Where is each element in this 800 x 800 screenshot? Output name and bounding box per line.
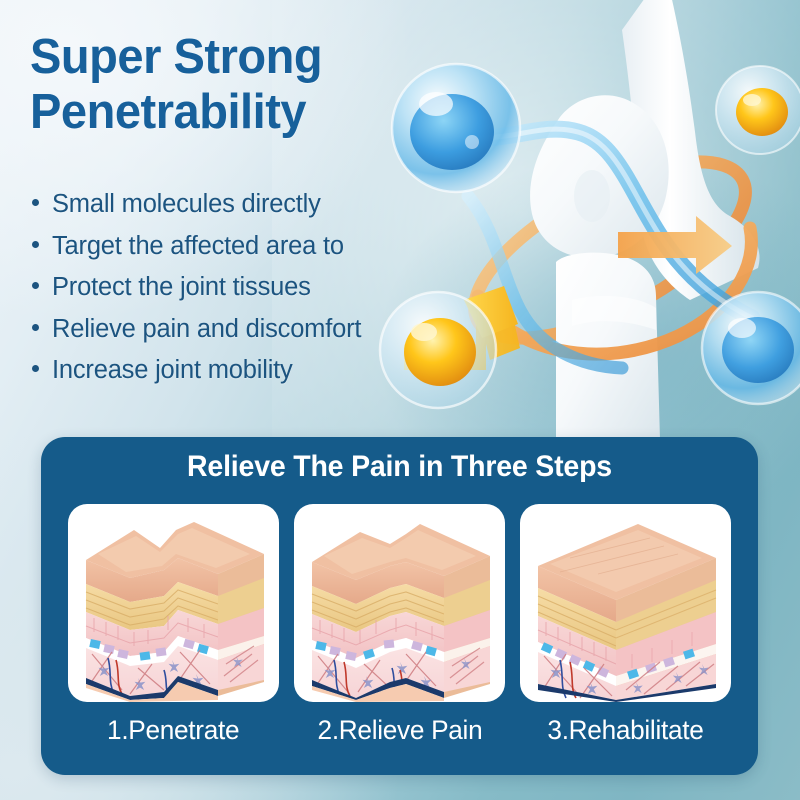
list-item-label: Increase joint mobility bbox=[52, 356, 293, 384]
skin-cross-section-healing bbox=[294, 504, 505, 702]
list-item: Target the affected area to bbox=[32, 232, 432, 260]
page-title-line-1: Super Strong bbox=[30, 30, 414, 85]
step-card-2: 2.Relieve Pain bbox=[294, 504, 505, 746]
list-item: Increase joint mobility bbox=[32, 356, 432, 384]
bullet-dot-icon bbox=[32, 365, 39, 372]
list-item: Small molecules directly bbox=[32, 190, 432, 218]
skin-cross-section-deep-wound bbox=[68, 504, 279, 702]
step-card-1: 1.Penetrate bbox=[68, 504, 279, 746]
list-item-label: Small molecules directly bbox=[52, 190, 321, 218]
list-item-label: Target the affected area to bbox=[52, 232, 344, 260]
list-item-label: Protect the joint tissues bbox=[52, 273, 311, 301]
list-item: Relieve pain and discomfort bbox=[32, 315, 432, 343]
step-card-1-label: 1.Penetrate bbox=[107, 715, 239, 746]
benefits-list: Small molecules directly Target the affe… bbox=[32, 190, 432, 398]
skin-cross-section-healed bbox=[520, 504, 731, 702]
blue-molecule-sphere-lower-right bbox=[702, 292, 800, 404]
step-card-2-label: 2.Relieve Pain bbox=[317, 715, 482, 746]
page-title: Super Strong Penetrability bbox=[30, 30, 414, 140]
list-item: Protect the joint tissues bbox=[32, 273, 432, 301]
bullet-dot-icon bbox=[32, 282, 39, 289]
bullet-dot-icon bbox=[32, 199, 39, 206]
steps-panel: Relieve The Pain in Three Steps bbox=[41, 437, 758, 775]
steps-card-row: 1.Penetrate bbox=[68, 504, 731, 746]
page-title-line-2: Penetrability bbox=[30, 85, 414, 140]
bullet-dot-icon bbox=[32, 324, 39, 331]
step-card-3-label: 3.Rehabilitate bbox=[547, 715, 703, 746]
step-card-3: 3.Rehabilitate bbox=[520, 504, 731, 746]
bullet-dot-icon bbox=[32, 241, 39, 248]
gold-droplet-sphere-right bbox=[716, 66, 800, 154]
list-item-label: Relieve pain and discomfort bbox=[52, 315, 361, 343]
steps-panel-title: Relieve The Pain in Three Steps bbox=[59, 450, 740, 484]
